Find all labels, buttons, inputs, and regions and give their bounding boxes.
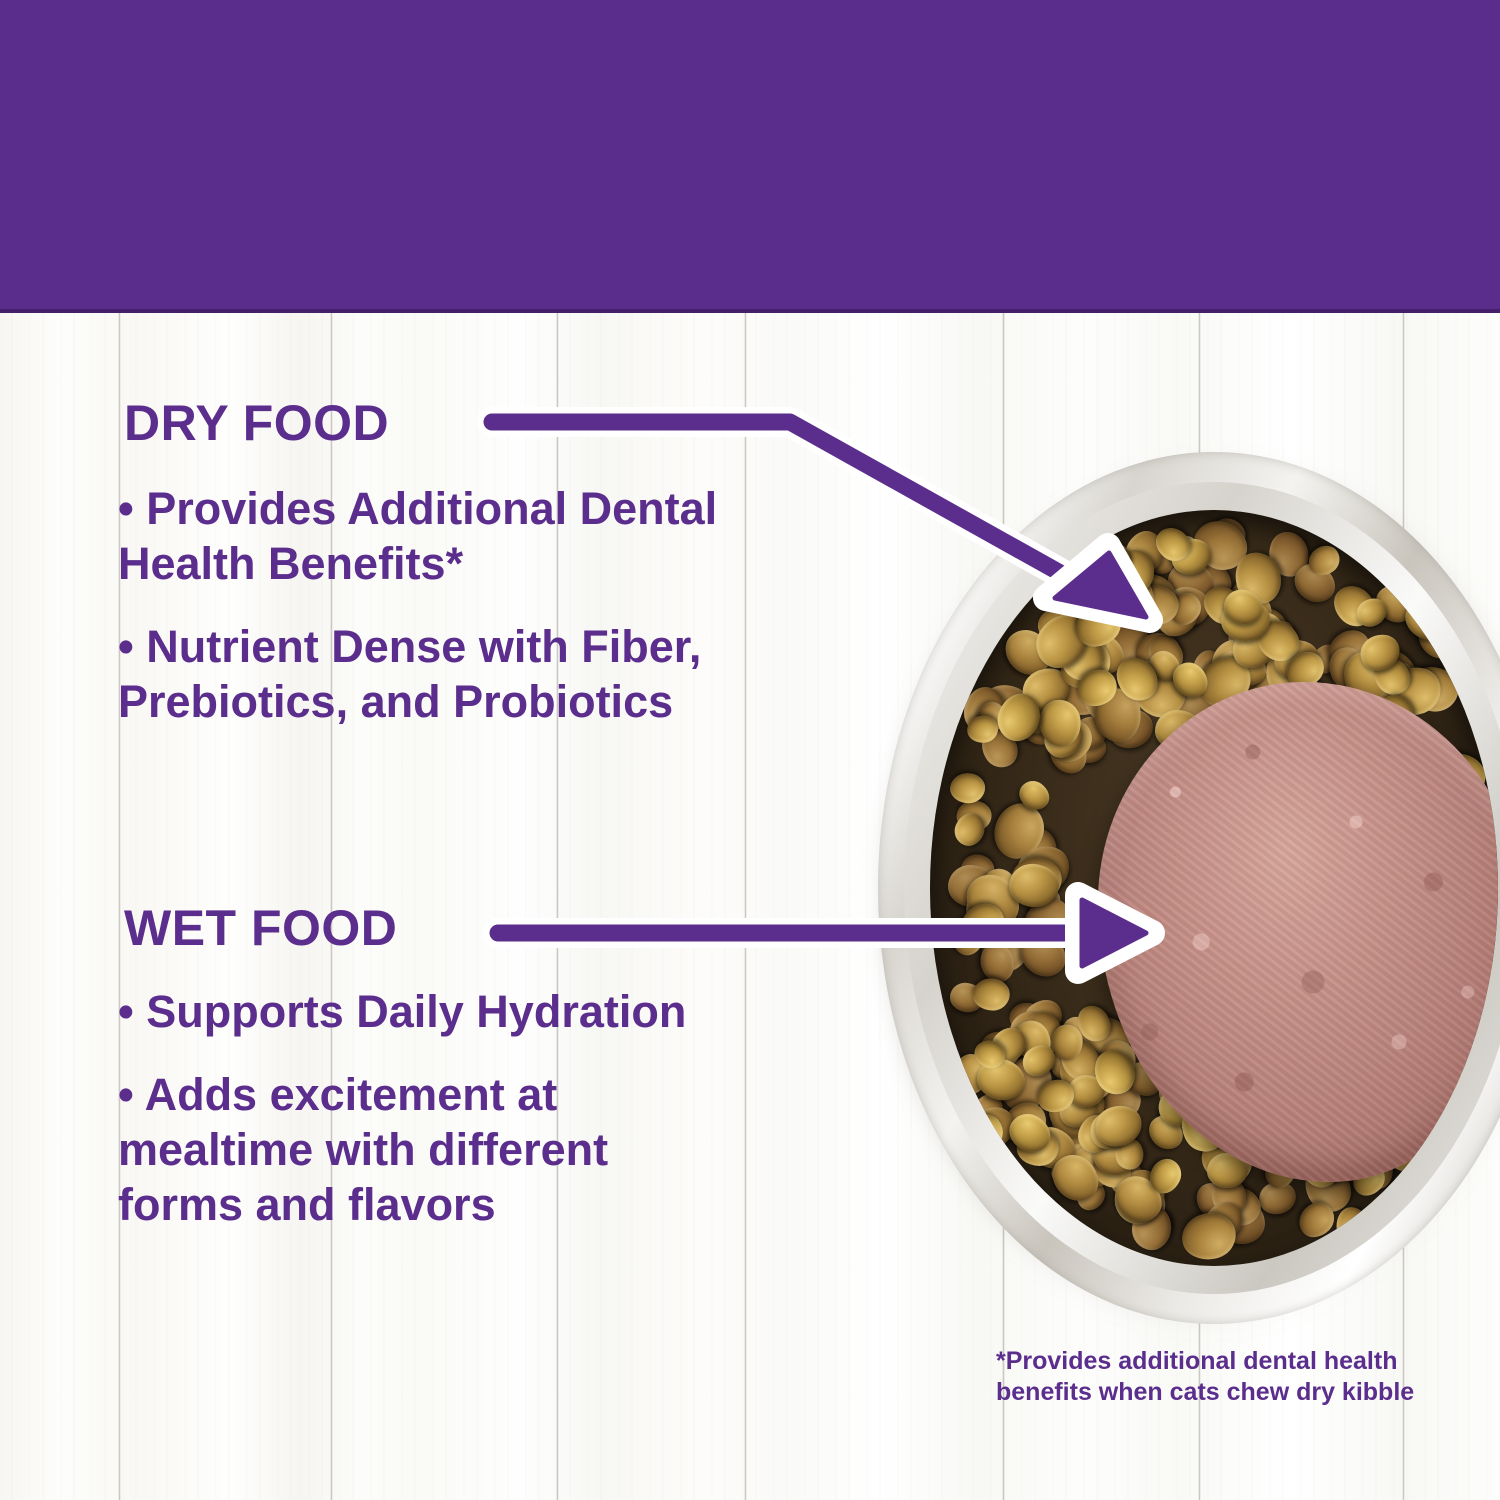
header-banner: [0, 0, 1500, 312]
header-banner-edge: [0, 309, 1500, 313]
wet-food-bullet-list: • Supports Daily Hydration • Adds excite…: [118, 985, 718, 1261]
kibble-piece: [1041, 1208, 1075, 1246]
list-item: • Adds excitement at mealtime with diffe…: [118, 1068, 718, 1233]
list-item: • Supports Daily Hydration: [118, 985, 718, 1040]
marketing-infographic: The Perfect Pair for A LIFE OF WELLBEING: [0, 0, 1500, 1500]
kibble-piece: [953, 1185, 996, 1235]
list-item: • Provides Additional Dental Health Bene…: [118, 482, 798, 592]
wet-food-heading: WET FOOD: [124, 903, 397, 953]
list-item: • Nutrient Dense with Fiber, Prebiotics,…: [118, 620, 798, 730]
dental-benefit-footnote: *Provides additional dental health benef…: [996, 1346, 1436, 1409]
dry-food-bullet-list: • Provides Additional Dental Health Bene…: [118, 482, 798, 758]
bowl-interior: [930, 510, 1498, 1266]
dry-food-heading: DRY FOOD: [124, 398, 389, 448]
wet-food-pate: [1098, 682, 1498, 1182]
kibble-piece: [950, 773, 985, 803]
pate-texture: [1098, 682, 1498, 1182]
kibble-piece: [1370, 1195, 1424, 1252]
kibble-piece: [952, 542, 993, 580]
kibble-piece: [1335, 1206, 1368, 1243]
pet-food-bowl-image: [878, 452, 1500, 1332]
